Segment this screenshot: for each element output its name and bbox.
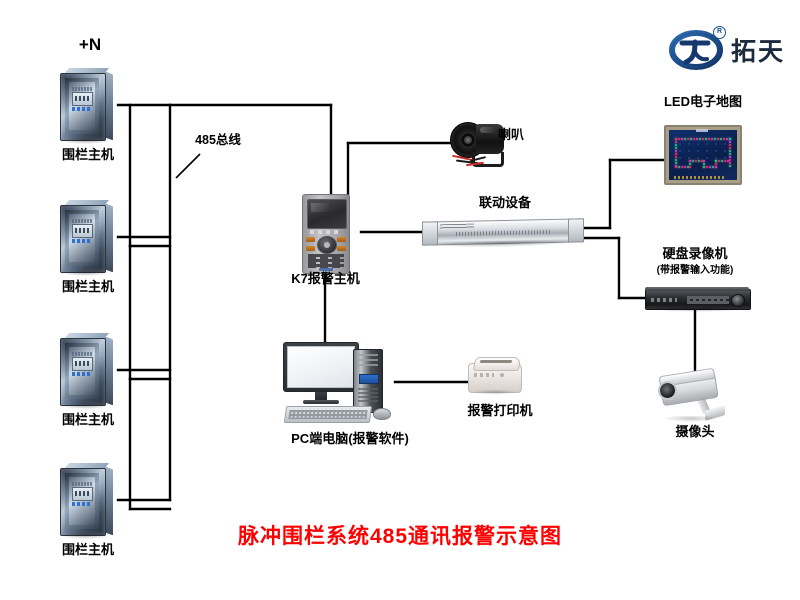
fence-host-1-label: 围栏主机 <box>28 148 148 163</box>
desktop-computer-icon <box>283 342 403 428</box>
fence-host-icon <box>56 68 118 144</box>
bus-485-leader-line <box>170 148 220 182</box>
trademark-icon: R <box>713 26 726 39</box>
fence-host-icon <box>56 200 118 276</box>
fence-host-3-label: 围栏主机 <box>28 413 148 428</box>
fence-host-2-label: 围栏主机 <box>28 280 148 295</box>
printer-icon <box>468 355 524 395</box>
dvr-icon <box>645 287 749 311</box>
k7-alarm-host-label: K7报警主机 <box>268 272 383 287</box>
dvr-label: 硬盘录像机 <box>620 247 770 262</box>
tuotian-logo-icon: R <box>668 28 724 72</box>
k7-alarm-host-icon <box>302 194 350 274</box>
dvr-sublabel: (带报警输入功能) <box>620 265 770 277</box>
printer-label: 报警打印机 <box>445 404 555 419</box>
plus-n-label: +N <box>50 35 130 55</box>
camera-label: 摄像头 <box>645 425 745 440</box>
pc-label: PC端电脑(报警软件) <box>255 432 445 447</box>
linkage-device-label: 联动设备 <box>430 196 580 211</box>
diagram-canvas: R 拓天 +N 围栏主机 围栏主机 围栏主机 <box>0 0 800 600</box>
diagram-title: 脉冲围栏系统485通讯报警示意图 <box>0 520 800 550</box>
brand-logo: R 拓天 <box>668 28 785 72</box>
rack-device-icon <box>422 218 582 247</box>
bus-485-label: 485总线 <box>178 133 258 147</box>
led-map-label: LED电子地图 <box>628 95 778 110</box>
fence-host-icon <box>56 333 118 409</box>
horn-speaker-label: 喇叭 <box>498 128 568 143</box>
led-map-icon <box>664 125 742 185</box>
brand-name: 拓天 <box>731 32 785 68</box>
camera-icon <box>655 368 731 430</box>
